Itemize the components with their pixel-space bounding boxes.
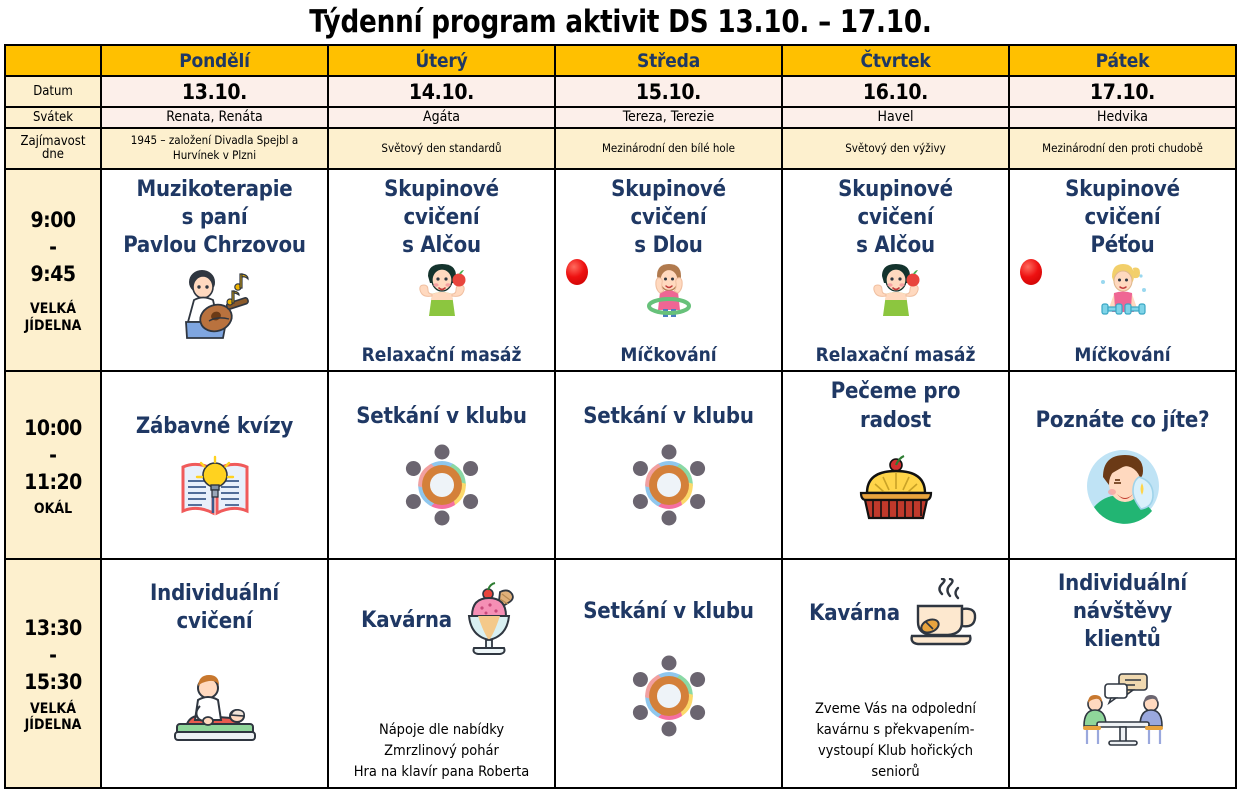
slot-dash: - bbox=[49, 445, 57, 466]
nameday-monday: Renata, Renáta bbox=[101, 107, 328, 128]
activity-cell-fri-1: Skupinové cvičení Péťou bbox=[1009, 169, 1236, 372]
slot-end-time: 15:30 bbox=[24, 672, 82, 693]
slot-start-time: 9:00 bbox=[31, 210, 76, 231]
pie-icon bbox=[853, 453, 939, 523]
two-people-talking-icon bbox=[1071, 670, 1175, 748]
group-circle-icon bbox=[625, 652, 713, 740]
activity-cell-wed-3: Setkání v klubu bbox=[555, 559, 782, 788]
activity-title-line: Setkání v klubu bbox=[356, 403, 527, 431]
activity-note-line: Hra na klavír pana Roberta bbox=[354, 762, 530, 783]
nameday-value: Havel bbox=[878, 109, 914, 125]
weekly-program-poster: Týdenní program aktivit DS 13.10. – 17.1… bbox=[0, 0, 1241, 791]
activity-title-line: s Alčou bbox=[856, 232, 935, 260]
slot-place: VELKÁ JÍDELNA bbox=[25, 701, 82, 733]
row-label-fact-line2: dne bbox=[42, 147, 64, 162]
slot-start-time: 13:30 bbox=[24, 618, 82, 639]
fact-value: Světový den standardů bbox=[329, 139, 554, 159]
slot-dash: - bbox=[49, 645, 57, 666]
slot-place-line1: VELKÁ bbox=[30, 301, 76, 317]
day-name-label: Pondělí bbox=[179, 50, 250, 72]
date-tuesday: 14.10. bbox=[328, 76, 555, 106]
activity-title-line: návštěvy bbox=[1073, 598, 1172, 626]
activity-note-line: Nápoje dle nabídky bbox=[379, 720, 504, 741]
date-value: 14.10. bbox=[409, 80, 474, 104]
date-row: Datum 13.10. 14.10. 15.10. 16.10. 17.10. bbox=[5, 76, 1236, 106]
activity-title-with-icon: Kavárna bbox=[333, 582, 550, 660]
day-header-row: Pondělí Úterý Středa Čtvrtek Pátek bbox=[5, 45, 1236, 76]
nameday-value: Hedvika bbox=[1097, 109, 1148, 125]
activity-title-line: radost bbox=[860, 407, 931, 435]
activity-note-line: kavárnu s překvapením- bbox=[817, 720, 975, 741]
red-ball-marker bbox=[566, 259, 588, 285]
activity-cell-tue-2: Setkání v klubu bbox=[328, 371, 555, 559]
page-title: Týdenní program aktivit DS 13.10. – 17.1… bbox=[37, 0, 1204, 44]
activity-title-line: Zábavné kvízy bbox=[136, 413, 293, 441]
activity-row-morning: 9:00 - 9:45 VELKÁ JÍDELNA Muzikoterapie … bbox=[5, 169, 1236, 372]
activity-title-line: Kavárna bbox=[809, 600, 900, 628]
activity-cell-tue-1: Skupinové cvičení s Alčou bbox=[328, 169, 555, 372]
date-friday: 17.10. bbox=[1009, 76, 1236, 106]
activity-note-line: Zveme Vás na odpolední bbox=[815, 699, 976, 720]
activity-title-line: cvičení bbox=[1084, 204, 1160, 232]
activity-title-line: cvičení bbox=[403, 204, 479, 232]
group-circle-icon bbox=[398, 441, 486, 529]
nameday-wednesday: Tereza, Terezie bbox=[555, 107, 782, 128]
activity-title-line: Péťou bbox=[1090, 232, 1154, 260]
date-value: 17.10. bbox=[1090, 80, 1155, 104]
activity-row-late-morning: 10:00 - 11:20 OKÁL Zábavné kvízy bbox=[5, 371, 1236, 559]
activity-cell-wed-1: Skupinové cvičení s Dlou bbox=[555, 169, 782, 372]
date-value: 15.10. bbox=[636, 80, 701, 104]
activity-row-afternoon: 13:30 - 15:30 VELKÁ JÍDELNA Individuální… bbox=[5, 559, 1236, 788]
activity-title-line: cvičení bbox=[857, 204, 933, 232]
corner-cell bbox=[5, 45, 101, 76]
activity-title-line: Pečeme pro bbox=[831, 378, 961, 406]
activity-title-line: Setkání v klubu bbox=[583, 598, 754, 626]
slot-place-line2: JÍDELNA bbox=[25, 318, 82, 334]
activity-title-line: cvičení bbox=[176, 608, 252, 636]
day-name-label: Úterý bbox=[415, 50, 467, 72]
date-value: 16.10. bbox=[863, 80, 928, 104]
fact-value: 1945 – založení Divadla Spejbl a Hurvíne… bbox=[102, 131, 327, 166]
activity-note-line: Zmrzlinový pohár bbox=[384, 741, 499, 762]
activity-title-line: s Dlou bbox=[634, 232, 702, 260]
time-slot-2: 10:00 - 11:20 OKÁL bbox=[5, 371, 101, 559]
red-ball-marker bbox=[1020, 259, 1042, 285]
activity-cell-fri-3: Individuální návštěvy klientů bbox=[1009, 559, 1236, 788]
fact-row: Zajímavost dne 1945 – založení Divadla S… bbox=[5, 128, 1236, 169]
nameday-value: Tereza, Terezie bbox=[623, 109, 715, 125]
activity-title-line: Pavlou Chrzovou bbox=[123, 232, 306, 260]
activity-subtitle: Relaxační masáž bbox=[362, 344, 522, 367]
woman-flexing-icon bbox=[865, 260, 927, 318]
slot-place-line1: VELKÁ bbox=[30, 701, 76, 717]
activity-title-line: Skupinové bbox=[838, 176, 953, 204]
activity-subtitle: Míčkování bbox=[620, 344, 716, 367]
woman-hula-hoop-icon bbox=[638, 260, 700, 318]
group-circle-icon bbox=[625, 441, 713, 529]
activity-cell-thu-3: Kavárna bbox=[782, 559, 1009, 788]
nameday-value: Agáta bbox=[423, 109, 460, 125]
tasting-person-icon bbox=[1084, 447, 1162, 525]
guitar-player-icon bbox=[172, 260, 258, 346]
massage-icon bbox=[165, 666, 265, 744]
fact-value: Mezinárodní den proti chudobě bbox=[1010, 139, 1235, 159]
day-header-monday: Pondělí bbox=[101, 45, 328, 76]
nameday-thursday: Havel bbox=[782, 107, 1009, 128]
nameday-tuesday: Agáta bbox=[328, 107, 555, 128]
fact-wednesday: Mezinárodní den bílé hole bbox=[555, 128, 782, 169]
activity-note-line: vystoupí Klub hořických bbox=[818, 741, 973, 762]
activity-title-line: Individuální bbox=[1058, 570, 1187, 598]
activity-title-line: Skupinové bbox=[1065, 176, 1180, 204]
activity-cell-mon-2: Zábavné kvízy bbox=[101, 371, 328, 559]
woman-flexing-icon bbox=[411, 260, 473, 318]
slot-end-time: 11:20 bbox=[24, 472, 82, 493]
day-name-label: Středa bbox=[637, 50, 700, 72]
slot-start-time: 10:00 bbox=[24, 418, 82, 439]
activity-title-line: Poznáte co jíte? bbox=[1036, 407, 1210, 435]
time-slot-3: 13:30 - 15:30 VELKÁ JÍDELNA bbox=[5, 559, 101, 788]
date-monday: 13.10. bbox=[101, 76, 328, 106]
activity-title-line: Individuální bbox=[150, 580, 279, 608]
row-label-svatek: Svátek bbox=[5, 107, 101, 128]
activity-cell-mon-1: Muzikoterapie s paní Pavlou Chrzovou bbox=[101, 169, 328, 372]
day-name-label: Čtvrtek bbox=[860, 50, 930, 72]
activity-cell-thu-1: Skupinové cvičení s Alčou bbox=[782, 169, 1009, 372]
fact-friday: Mezinárodní den proti chudobě bbox=[1009, 128, 1236, 169]
date-value: 13.10. bbox=[182, 80, 247, 104]
slot-dash: - bbox=[49, 237, 57, 258]
activity-title-with-icon: Kavárna bbox=[787, 578, 1004, 650]
activity-title-line: Muzikoterapie bbox=[136, 176, 292, 204]
activity-cell-mon-3: Individuální cvičení bbox=[101, 559, 328, 788]
fact-tuesday: Světový den standardů bbox=[328, 128, 555, 169]
slot-place-line2: JÍDELNA bbox=[25, 717, 82, 733]
activity-title-line: Setkání v klubu bbox=[583, 403, 754, 431]
activity-title-line: s paní bbox=[182, 204, 248, 232]
activity-title-line: Skupinové bbox=[611, 176, 726, 204]
ice-cream-sundae-icon bbox=[456, 582, 522, 660]
day-name-label: Pátek bbox=[1096, 50, 1150, 72]
book-lightbulb-icon bbox=[177, 453, 253, 519]
row-label-fact: Zajímavost dne bbox=[5, 128, 101, 169]
activity-subtitle: Relaxační masáž bbox=[816, 344, 976, 367]
activity-title-line: Kavárna bbox=[361, 607, 452, 635]
fact-thursday: Světový den výživy bbox=[782, 128, 1009, 169]
slot-place: OKÁL bbox=[34, 501, 72, 517]
woman-dumbbells-icon bbox=[1092, 260, 1154, 318]
activity-title-line: Skupinové bbox=[384, 176, 499, 204]
fact-value: Světový den výživy bbox=[783, 139, 1008, 159]
date-wednesday: 15.10. bbox=[555, 76, 782, 106]
activity-cell-fri-2: Poznáte co jíte? bbox=[1009, 371, 1236, 559]
date-thursday: 16.10. bbox=[782, 76, 1009, 106]
fact-monday: 1945 – založení Divadla Spejbl a Hurvíne… bbox=[101, 128, 328, 169]
activity-cell-thu-2: Pečeme pro radost bbox=[782, 371, 1009, 559]
activity-subtitle: Míčkování bbox=[1074, 344, 1170, 367]
nameday-row: Svátek Renata, Renáta Agáta Tereza, Tere… bbox=[5, 107, 1236, 128]
day-header-tuesday: Úterý bbox=[328, 45, 555, 76]
activity-title-line: cvičení bbox=[630, 204, 706, 232]
fact-value: Mezinárodní den bílé hole bbox=[556, 139, 781, 159]
nameday-friday: Hedvika bbox=[1009, 107, 1236, 128]
day-header-wednesday: Středa bbox=[555, 45, 782, 76]
slot-place: VELKÁ JÍDELNA bbox=[25, 301, 82, 333]
activity-cell-tue-3: Kavárna bbox=[328, 559, 555, 788]
time-slot-1: 9:00 - 9:45 VELKÁ JÍDELNA bbox=[5, 169, 101, 372]
activity-title-line: s Alčou bbox=[402, 232, 481, 260]
activity-note-line: seniorů bbox=[871, 762, 919, 783]
activity-cell-wed-2: Setkání v klubu bbox=[555, 371, 782, 559]
schedule-table: Pondělí Úterý Středa Čtvrtek Pátek Datum… bbox=[4, 44, 1237, 789]
slot-end-time: 9:45 bbox=[31, 264, 76, 285]
day-header-thursday: Čtvrtek bbox=[782, 45, 1009, 76]
activity-title-line: klientů bbox=[1084, 626, 1160, 654]
day-header-friday: Pátek bbox=[1009, 45, 1236, 76]
coffee-cup-icon bbox=[904, 578, 982, 650]
row-label-datum: Datum bbox=[5, 76, 101, 106]
nameday-value: Renata, Renáta bbox=[166, 109, 262, 125]
